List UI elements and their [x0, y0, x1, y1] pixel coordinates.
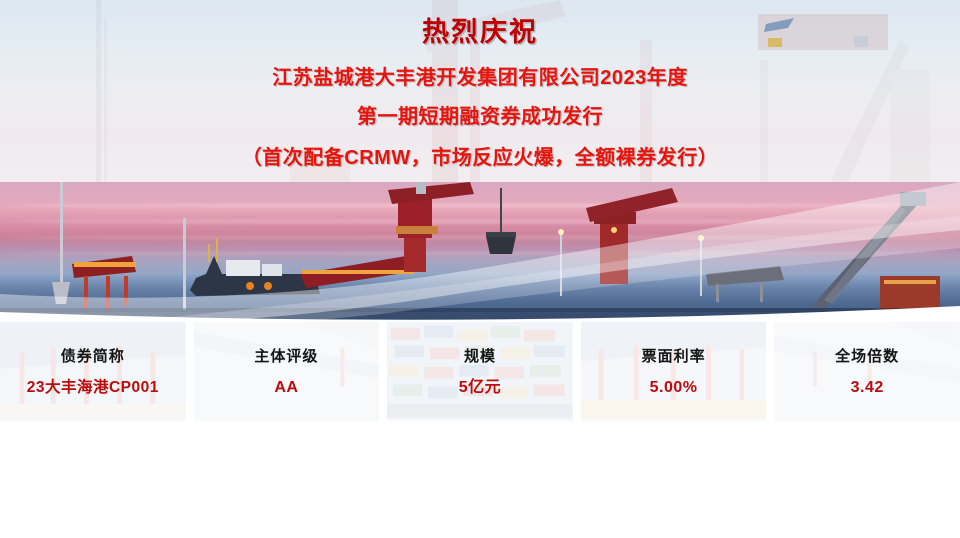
footer: 发行人： 盐城港 YANCHENG PORT 主承销商/簿记管理人 /CRMW创… [0, 422, 960, 538]
card-value: AA [274, 380, 298, 396]
hero-photo-port [0, 182, 960, 322]
card-label: 债券简称 [61, 349, 125, 364]
card-value: 5亿元 [459, 380, 501, 396]
title-line-note: （首次配备CRMW，市场反应火爆，全额裸券发行） [0, 141, 960, 170]
card-label: 主体评级 [254, 349, 318, 364]
stat-card[interactable]: 债券简称 23大丰海港CP001 [0, 322, 186, 422]
stat-card[interactable]: 全场倍数 3.42 [774, 322, 960, 422]
poster-root: 热烈庆祝 江苏盐城港大丰港开发集团有限公司2023年度 第一期短期融资券成功发行… [0, 0, 960, 538]
hero-photo-layers [0, 182, 960, 322]
stat-card[interactable]: 主体评级 AA [194, 322, 380, 422]
card-value: 3.42 [851, 380, 884, 396]
card-value: 5.00% [650, 380, 698, 396]
port-structures [0, 182, 960, 322]
stat-card[interactable]: 规模 5亿元 [387, 322, 573, 422]
card-value: 23大丰海港CP001 [27, 380, 159, 396]
stat-cards: 债券简称 23大丰海港CP001 主体评级 AA [0, 322, 960, 422]
celebrate-heading: 热烈庆祝 [0, 16, 960, 50]
stat-card[interactable]: 票面利率 5.00% [581, 322, 767, 422]
card-label: 规模 [464, 349, 496, 364]
title-line-company: 江苏盐城港大丰港开发集团有限公司2023年度 [0, 61, 960, 90]
title-line-issue: 第一期短期融资券成功发行 [0, 100, 960, 129]
header-band: 热烈庆祝 江苏盐城港大丰港开发集团有限公司2023年度 第一期短期融资券成功发行… [0, 0, 960, 182]
title-block: 热烈庆祝 江苏盐城港大丰港开发集团有限公司2023年度 第一期短期融资券成功发行… [0, 0, 960, 182]
card-label: 票面利率 [642, 349, 706, 364]
card-label: 全场倍数 [835, 349, 899, 364]
